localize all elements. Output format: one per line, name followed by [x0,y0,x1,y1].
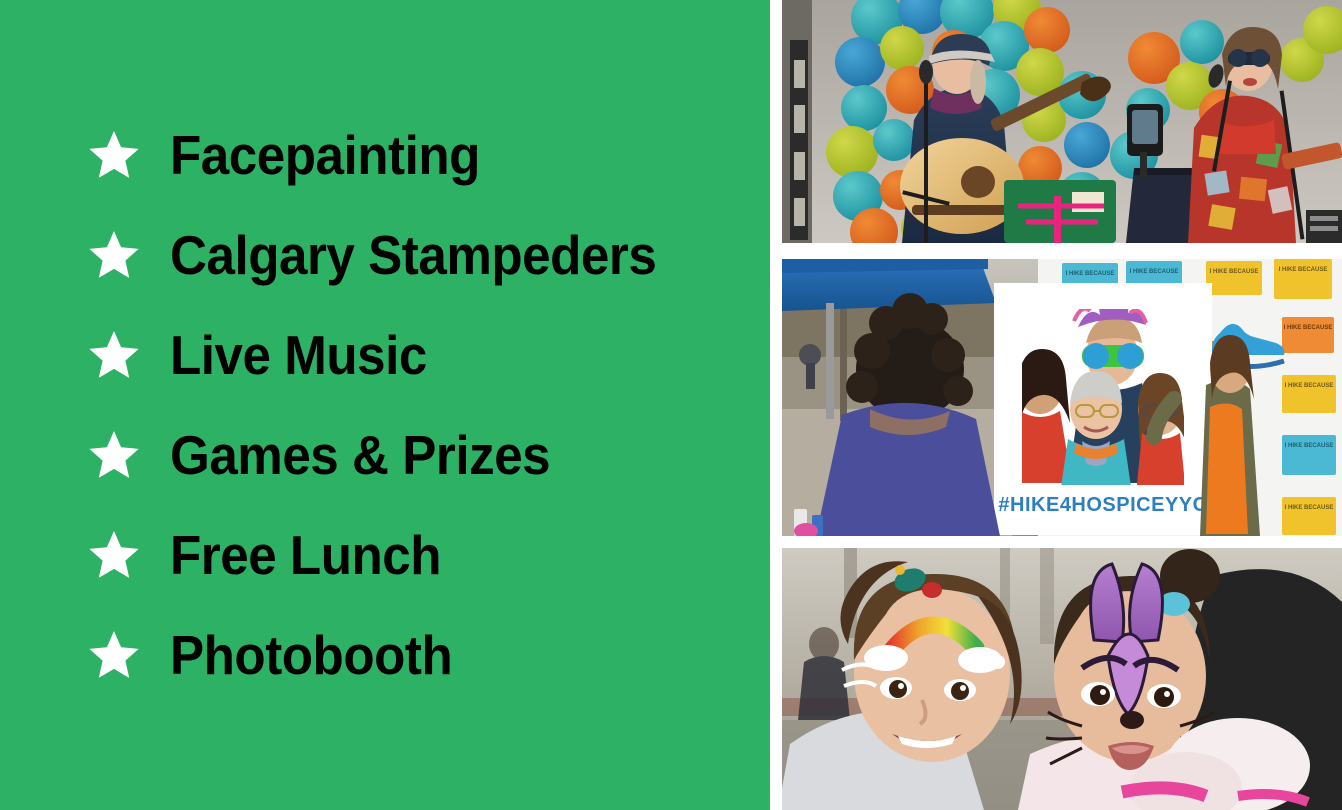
svg-text:I HIKE BECAUSE: I HIKE BECAUSE [1130,269,1179,275]
list-item-label: Facepainting [170,128,480,183]
list-item: Photobooth [0,605,770,705]
svg-text:I HIKE BECAUSE: I HIKE BECAUSE [1284,325,1333,331]
svg-text:I HIKE BECAUSE: I HIKE BECAUSE [1285,383,1334,389]
list-item: Live Music [0,305,770,405]
list-item-label: Calgary Stampeders [170,228,656,283]
star-icon [88,529,140,581]
list-item: Calgary Stampeders [0,205,770,305]
star-icon [88,129,140,181]
svg-text:I HIKE BECAUSE: I HIKE BECAUSE [1279,267,1328,273]
list-item: Facepainting [0,105,770,205]
star-icon [88,329,140,381]
svg-text:#HIKE4HOSPICEYYC: #HIKE4HOSPICEYYC [998,494,1207,516]
activities-slide: Facepainting Calgary Stampeders Live Mus… [0,0,1342,810]
features-panel: Facepainting Calgary Stampeders Live Mus… [0,0,770,810]
svg-text:I HIKE BECAUSE: I HIKE BECAUSE [1285,443,1334,449]
facepainting-children-photo [782,548,1342,810]
list-item: Games & Prizes [0,405,770,505]
photobooth-group-photo: I HIKE BECAUSE I HIKE BECAUSE I HIKE BEC… [782,259,1342,536]
photo-column: hope [782,0,1342,810]
list-item-label: Photobooth [170,628,452,683]
list-item-label: Games & Prizes [170,428,550,483]
list-item: Free Lunch [0,505,770,605]
svg-text:I HIKE BECAUSE: I HIKE BECAUSE [1285,505,1334,511]
star-icon [88,629,140,681]
features-list: Facepainting Calgary Stampeders Live Mus… [0,0,770,810]
star-icon [88,229,140,281]
svg-text:I HIKE BECAUSE: I HIKE BECAUSE [1210,269,1259,275]
star-icon [88,429,140,481]
svg-text:I HIKE BECAUSE: I HIKE BECAUSE [1066,271,1115,277]
list-item-label: Live Music [170,328,427,383]
list-item-label: Free Lunch [170,528,441,583]
live-music-performers-photo: hope [782,0,1342,243]
